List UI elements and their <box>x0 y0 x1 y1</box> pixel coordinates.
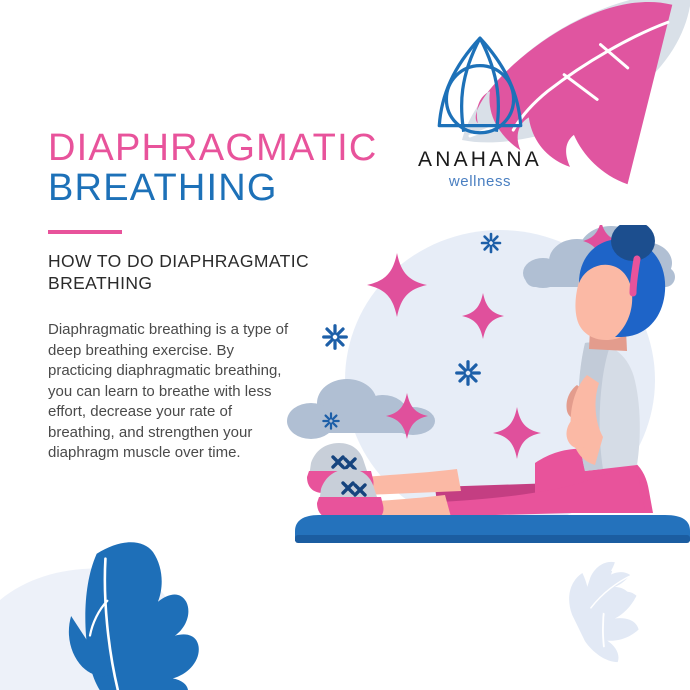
poster-canvas: ANAHANA wellness DIAPHRAGMATIC BREATHING… <box>0 0 690 690</box>
yoga-mat <box>295 515 690 543</box>
near-hand <box>567 419 592 448</box>
pink-divider <box>48 230 122 234</box>
hair-band <box>633 259 637 293</box>
triquetra-icon <box>395 32 565 144</box>
pale-blob-bottom-left <box>0 569 178 690</box>
body-paragraph: Diaphragmatic breathing is a type of dee… <box>48 320 296 464</box>
page-title: DIAPHRAGMATIC BREATHING <box>48 128 348 208</box>
brand-logo[interactable]: ANAHANA wellness <box>395 32 565 191</box>
pale-leaf-bottom-right-small <box>577 556 639 631</box>
logo-wordmark: ANAHANA <box>395 148 565 172</box>
title-line-2: BREATHING <box>48 168 348 208</box>
logo-tagline: wellness <box>395 173 565 191</box>
woman-seated-breathing-illustration <box>285 225 690 555</box>
title-line-1: DIAPHRAGMATIC <box>48 128 348 168</box>
blue-leaf-bottom-left <box>57 535 208 690</box>
pale-leaf-bottom-right-large <box>558 556 659 671</box>
